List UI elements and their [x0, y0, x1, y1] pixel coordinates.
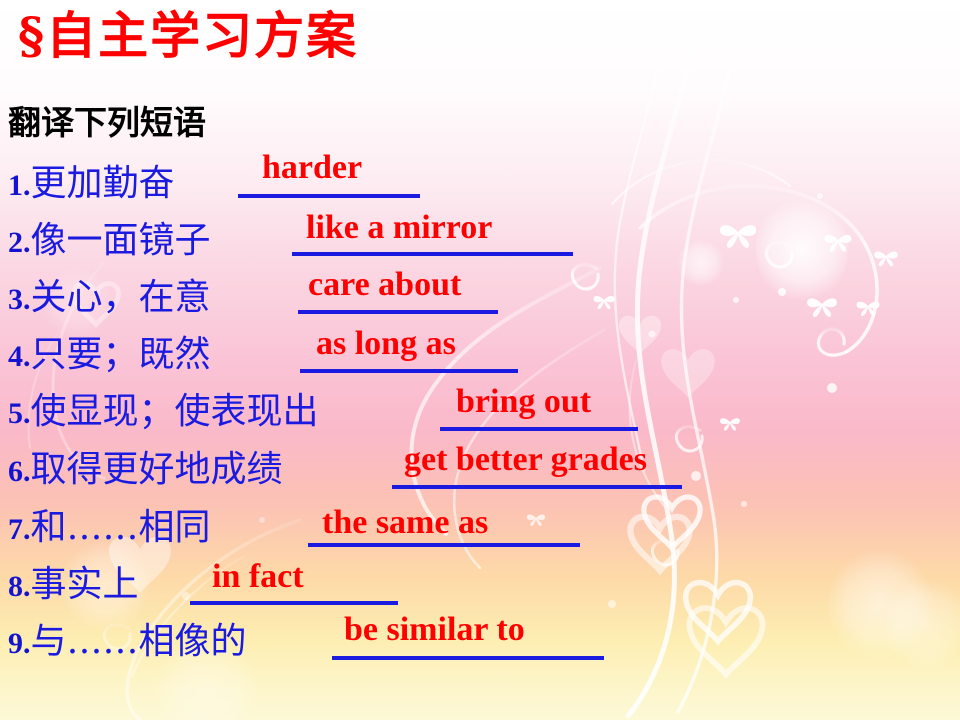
list-item: 6.取得更好地成绩: [8, 440, 283, 486]
item-number: 8.: [8, 570, 31, 603]
content-layer: §自主学习方案 翻译下列短语 1.更加勤奋 harder 2.像一面镜子 lik…: [0, 0, 960, 720]
item-chinese: 像一面镜子: [31, 220, 211, 261]
item-answer: as long as: [316, 327, 456, 361]
item-chinese: 关心，在意: [31, 277, 211, 318]
item-chinese: 取得更好地成绩: [31, 449, 283, 490]
item-answer: get better grades: [404, 443, 647, 477]
list-item: 7.和……相同: [8, 498, 211, 544]
item-chinese: 和……相同: [31, 507, 211, 548]
list-item: 2.像一面镜子: [8, 211, 211, 257]
list-item: 3.关心，在意: [8, 268, 211, 314]
item-answer: bring out: [456, 385, 591, 419]
item-chinese: 只要；既然: [31, 334, 211, 375]
item-number: 2.: [8, 226, 31, 259]
list-item: 9.与……相像的: [8, 612, 247, 658]
item-number: 9.: [8, 627, 31, 660]
answer-underline: [332, 656, 604, 660]
item-answer: like a mirror: [306, 211, 492, 245]
item-number: 7.: [8, 513, 31, 546]
item-answer: care about: [308, 268, 461, 302]
list-item: 4.只要；既然: [8, 325, 211, 371]
item-number: 3.: [8, 283, 31, 316]
list-item: 8.事实上: [8, 555, 139, 601]
answer-underline: [190, 601, 398, 605]
answer-underline: [440, 427, 638, 431]
answer-underline: [298, 310, 498, 314]
instruction-text: 翻译下列短语: [8, 96, 206, 144]
item-number: 4.: [8, 340, 31, 373]
item-number: 5.: [8, 397, 31, 430]
item-answer: in fact: [212, 560, 304, 594]
item-answer: the same as: [322, 506, 488, 540]
item-answer: be similar to: [344, 613, 525, 647]
answer-underline: [300, 369, 518, 373]
item-number: 6.: [8, 455, 31, 488]
answer-underline: [292, 252, 573, 256]
item-answer: harder: [262, 151, 362, 185]
item-chinese: 更加勤奋: [31, 163, 175, 204]
page-title: §自主学习方案: [18, 8, 358, 63]
answer-underline: [238, 194, 420, 198]
list-item: 5.使显现；使表现出: [8, 382, 319, 428]
answer-underline: [392, 485, 682, 489]
item-chinese: 与……相像的: [31, 621, 247, 662]
item-chinese: 事实上: [31, 564, 139, 605]
slide-canvas: §自主学习方案 翻译下列短语 1.更加勤奋 harder 2.像一面镜子 lik…: [0, 0, 960, 720]
item-number: 1.: [8, 169, 31, 202]
item-chinese: 使显现；使表现出: [31, 391, 319, 432]
list-item: 1.更加勤奋: [8, 154, 175, 200]
answer-underline: [308, 543, 580, 547]
